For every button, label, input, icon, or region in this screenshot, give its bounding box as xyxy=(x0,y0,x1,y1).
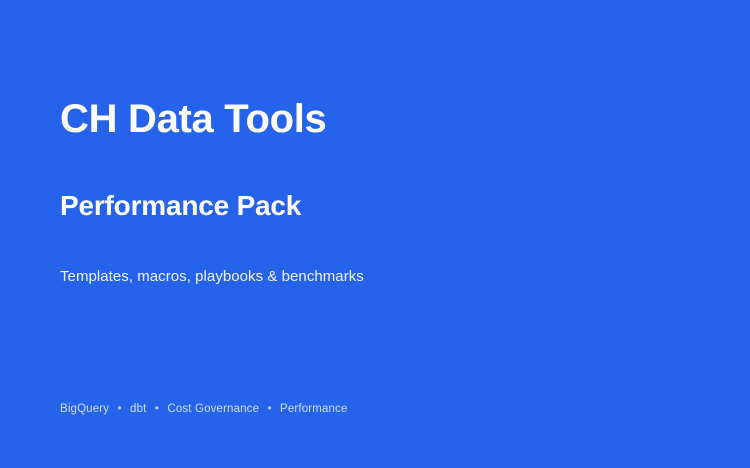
title-slide: CH Data Tools Performance Pack Templates… xyxy=(0,0,750,468)
footer-item-dbt: dbt xyxy=(130,403,146,415)
footer-item-cost-governance: Cost Governance xyxy=(167,403,259,415)
slide-tagline: Templates, macros, playbooks & benchmark… xyxy=(60,266,364,287)
footer-separator-icon: • xyxy=(150,401,164,417)
slide-subtitle: Performance Pack xyxy=(60,189,301,223)
footer-separator-icon: • xyxy=(113,401,127,417)
footer-item-bigquery: BigQuery xyxy=(60,403,109,415)
page-title: CH Data Tools xyxy=(60,96,327,142)
footer-separator-icon: • xyxy=(263,401,277,417)
footer-meta: BigQuery • dbt • Cost Governance • Perfo… xyxy=(60,401,348,417)
footer-item-performance: Performance xyxy=(280,403,347,415)
title-block: CH Data Tools xyxy=(60,96,327,142)
